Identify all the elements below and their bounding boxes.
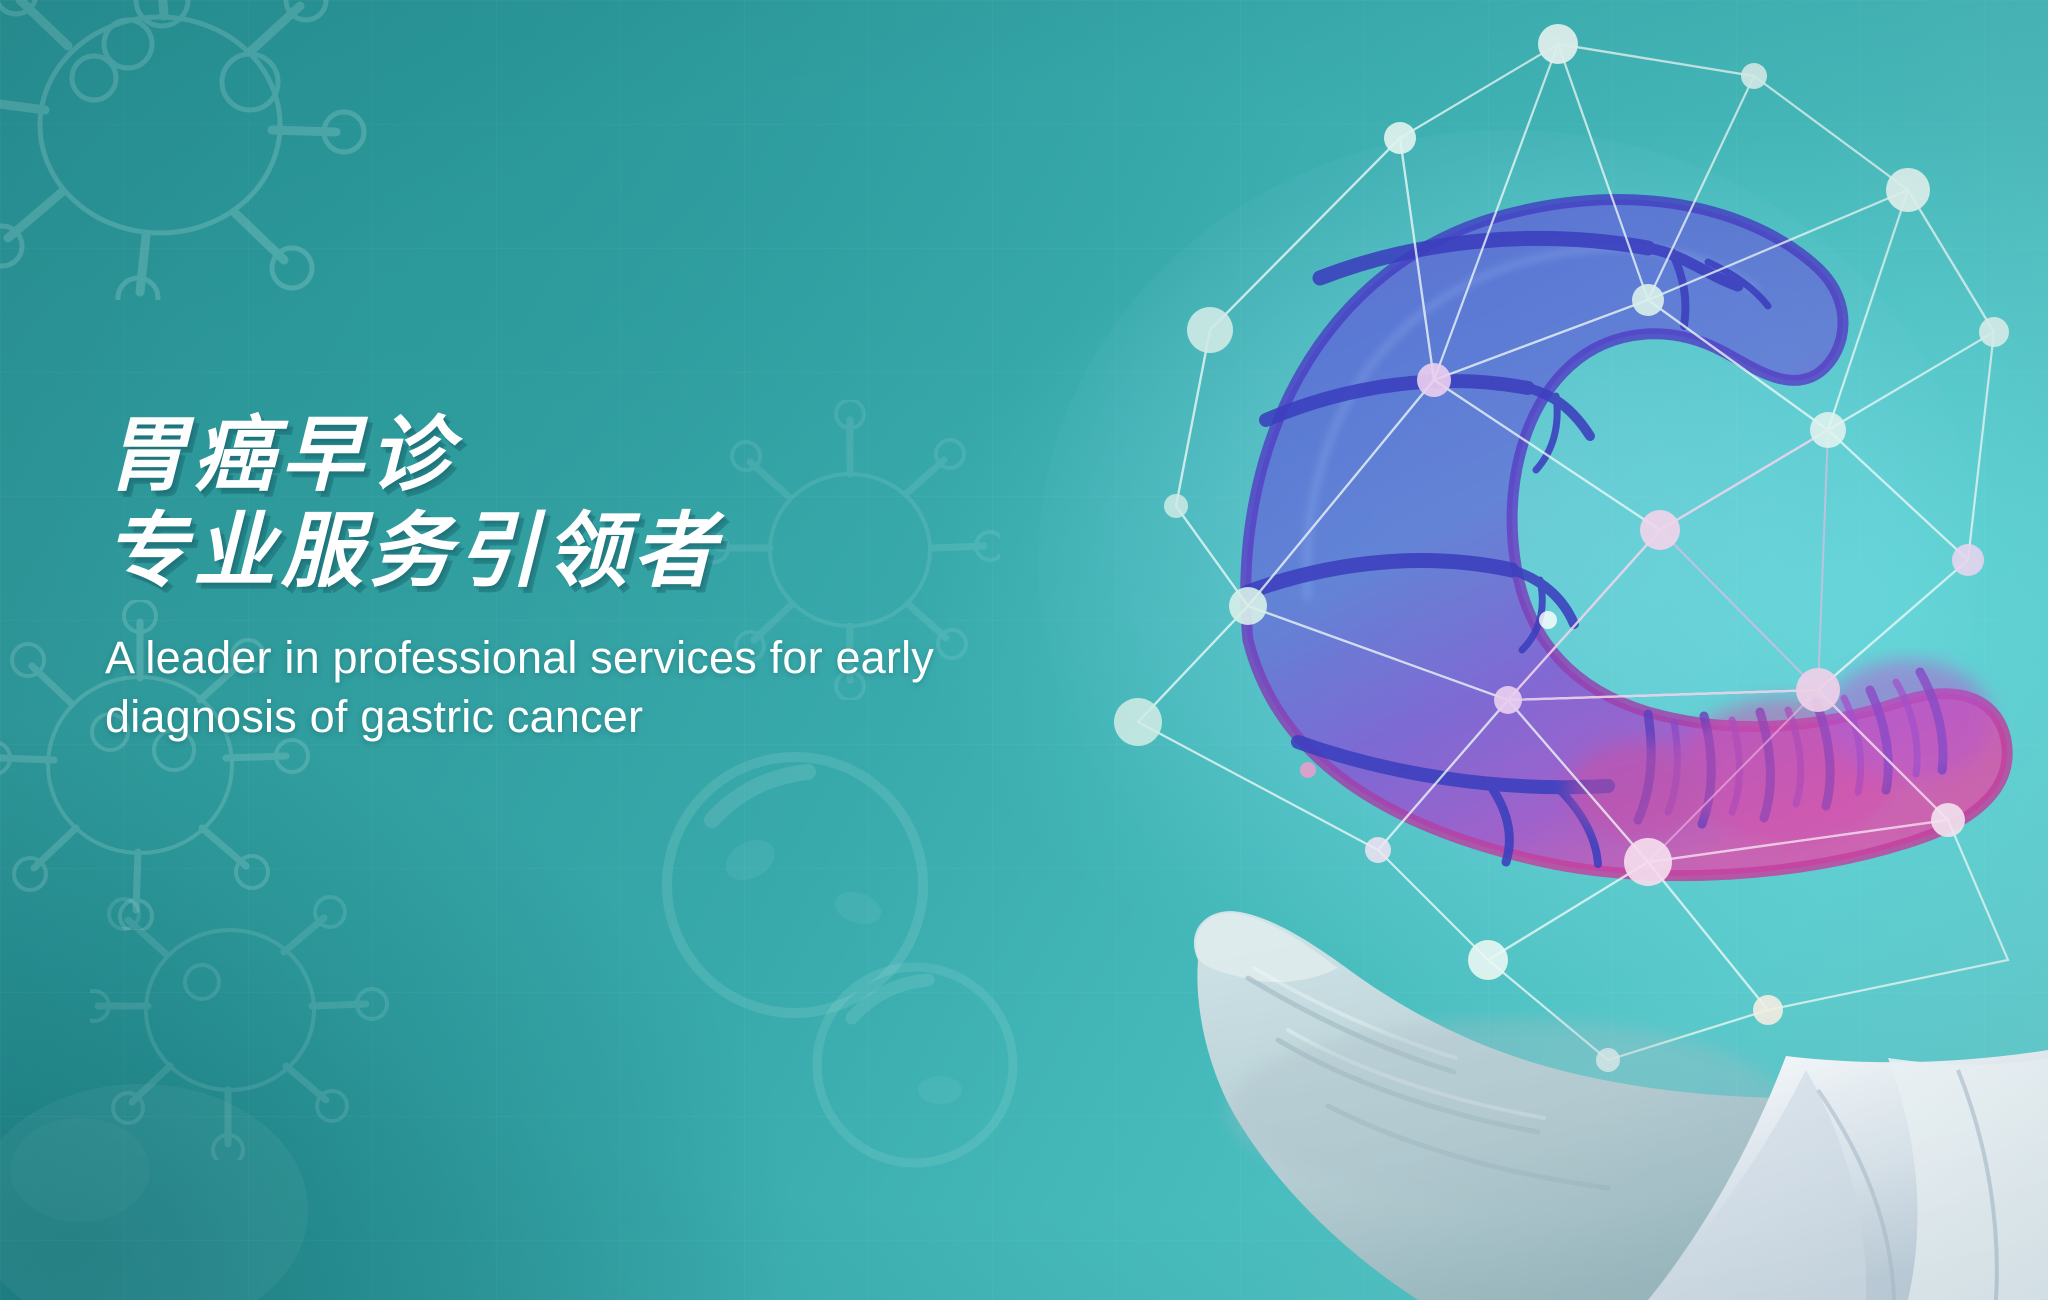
- lab-coat-sleeve-icon: [1648, 1050, 2048, 1300]
- hero-banner: 胃癌早诊 专业服务引领者 A leader in professional se…: [0, 0, 2048, 1300]
- heading-line-2: 专业服务引领者: [105, 506, 1105, 598]
- subtitle-line-1: A leader in professional services for ea…: [105, 628, 1105, 687]
- virus-cell-watermark-icon: [0, 0, 370, 300]
- cell-bubble-watermark-icon: [0, 1050, 320, 1300]
- polygonal-network-mesh-icon: [1138, 44, 2008, 1060]
- open-palm-hand-icon: [1194, 911, 2048, 1300]
- subtitle-line-2: diagnosis of gastric cancer: [105, 687, 1105, 746]
- subtitle: A leader in professional services for ea…: [105, 628, 1105, 747]
- stomach-hologram-artwork: [948, 0, 2048, 1300]
- heading-line-1: 胃癌早诊: [105, 410, 1105, 502]
- virus-cell-watermark-icon: [90, 860, 390, 1160]
- banner-text-block: 胃癌早诊 专业服务引领者 A leader in professional se…: [105, 410, 1105, 746]
- cell-bubble-watermark-icon: [790, 940, 1040, 1190]
- network-node-icon: [1114, 24, 2009, 1072]
- cell-bubble-watermark-icon: [630, 720, 960, 1050]
